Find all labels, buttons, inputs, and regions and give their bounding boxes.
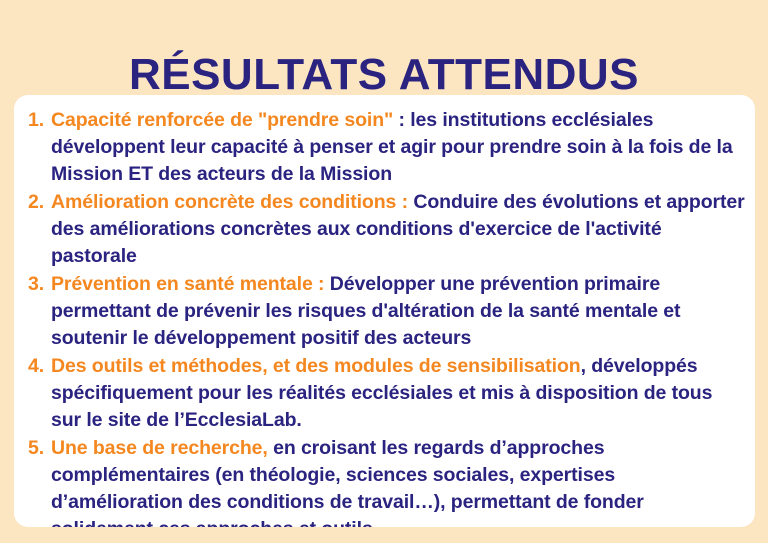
list-item-number: 5. <box>28 435 49 462</box>
list-item-number: 2. <box>28 189 49 216</box>
slide: RÉSULTATS ATTENDUS 1. Capacité renforcée… <box>0 0 768 543</box>
list-item-number: 4. <box>28 353 49 380</box>
list-item-highlight: Amélioration concrète des conditions : <box>51 191 408 213</box>
list-item-highlight: Prévention en santé mentale : <box>51 273 324 295</box>
list-item: 1. Capacité renforcée de "prendre soin" … <box>28 107 745 188</box>
list-item-number: 1. <box>28 107 49 134</box>
list-item: 3. Prévention en santé mentale : Dévelop… <box>28 271 745 352</box>
results-card: 1. Capacité renforcée de "prendre soin" … <box>14 95 755 527</box>
list-item-number: 3. <box>28 271 49 298</box>
list-item-highlight: Des outils et méthodes, et des modules d… <box>51 355 581 377</box>
list-item: 2. Amélioration concrète des conditions … <box>28 189 745 270</box>
list-item: 5. Une base de recherche, en croisant le… <box>28 435 745 527</box>
results-list: 1. Capacité renforcée de "prendre soin" … <box>28 107 745 527</box>
list-item-highlight: Capacité renforcée de "prendre soin" <box>51 109 393 131</box>
list-item-highlight: Une base de recherche, <box>51 437 268 459</box>
list-item: 4. Des outils et méthodes, et des module… <box>28 353 745 434</box>
